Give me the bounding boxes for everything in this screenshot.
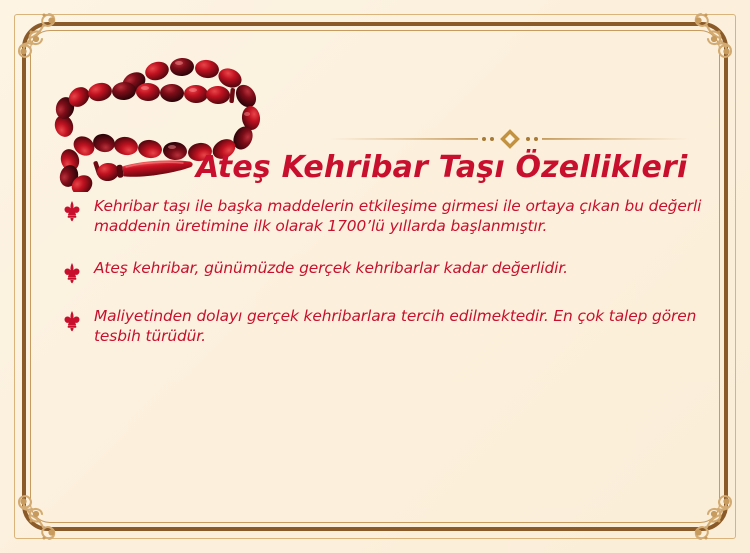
corner-ornament-top-left <box>10 10 88 88</box>
features-list: Kehribar taşı ile başka maddelerin etkil… <box>62 196 702 368</box>
corner-ornament-top-right <box>662 10 740 88</box>
certificate-page: Ateş Kehribar Taşı Özellikleri Kehribar … <box>0 0 750 553</box>
list-item: Ateş kehribar, günümüzde gerçek kehribar… <box>62 258 702 284</box>
fleur-de-lis-icon <box>62 200 82 222</box>
fleur-de-lis-icon <box>62 310 82 332</box>
fleur-de-lis-icon <box>62 262 82 284</box>
gold-divider-ornament <box>330 128 690 150</box>
list-item: Maliyetinden dolayı gerçek kehribarlara … <box>62 306 702 346</box>
list-item-text: Ateş kehribar, günümüzde gerçek kehribar… <box>94 258 702 278</box>
list-item-text: Kehribar taşı ile başka maddelerin etkil… <box>94 196 702 236</box>
list-item-text: Maliyetinden dolayı gerçek kehribarlara … <box>94 306 702 346</box>
corner-ornament-bottom-left <box>10 465 88 543</box>
list-item: Kehribar taşı ile başka maddelerin etkil… <box>62 196 702 236</box>
page-title: Ateş Kehribar Taşı Özellikleri <box>196 150 716 185</box>
corner-ornament-bottom-right <box>662 465 740 543</box>
